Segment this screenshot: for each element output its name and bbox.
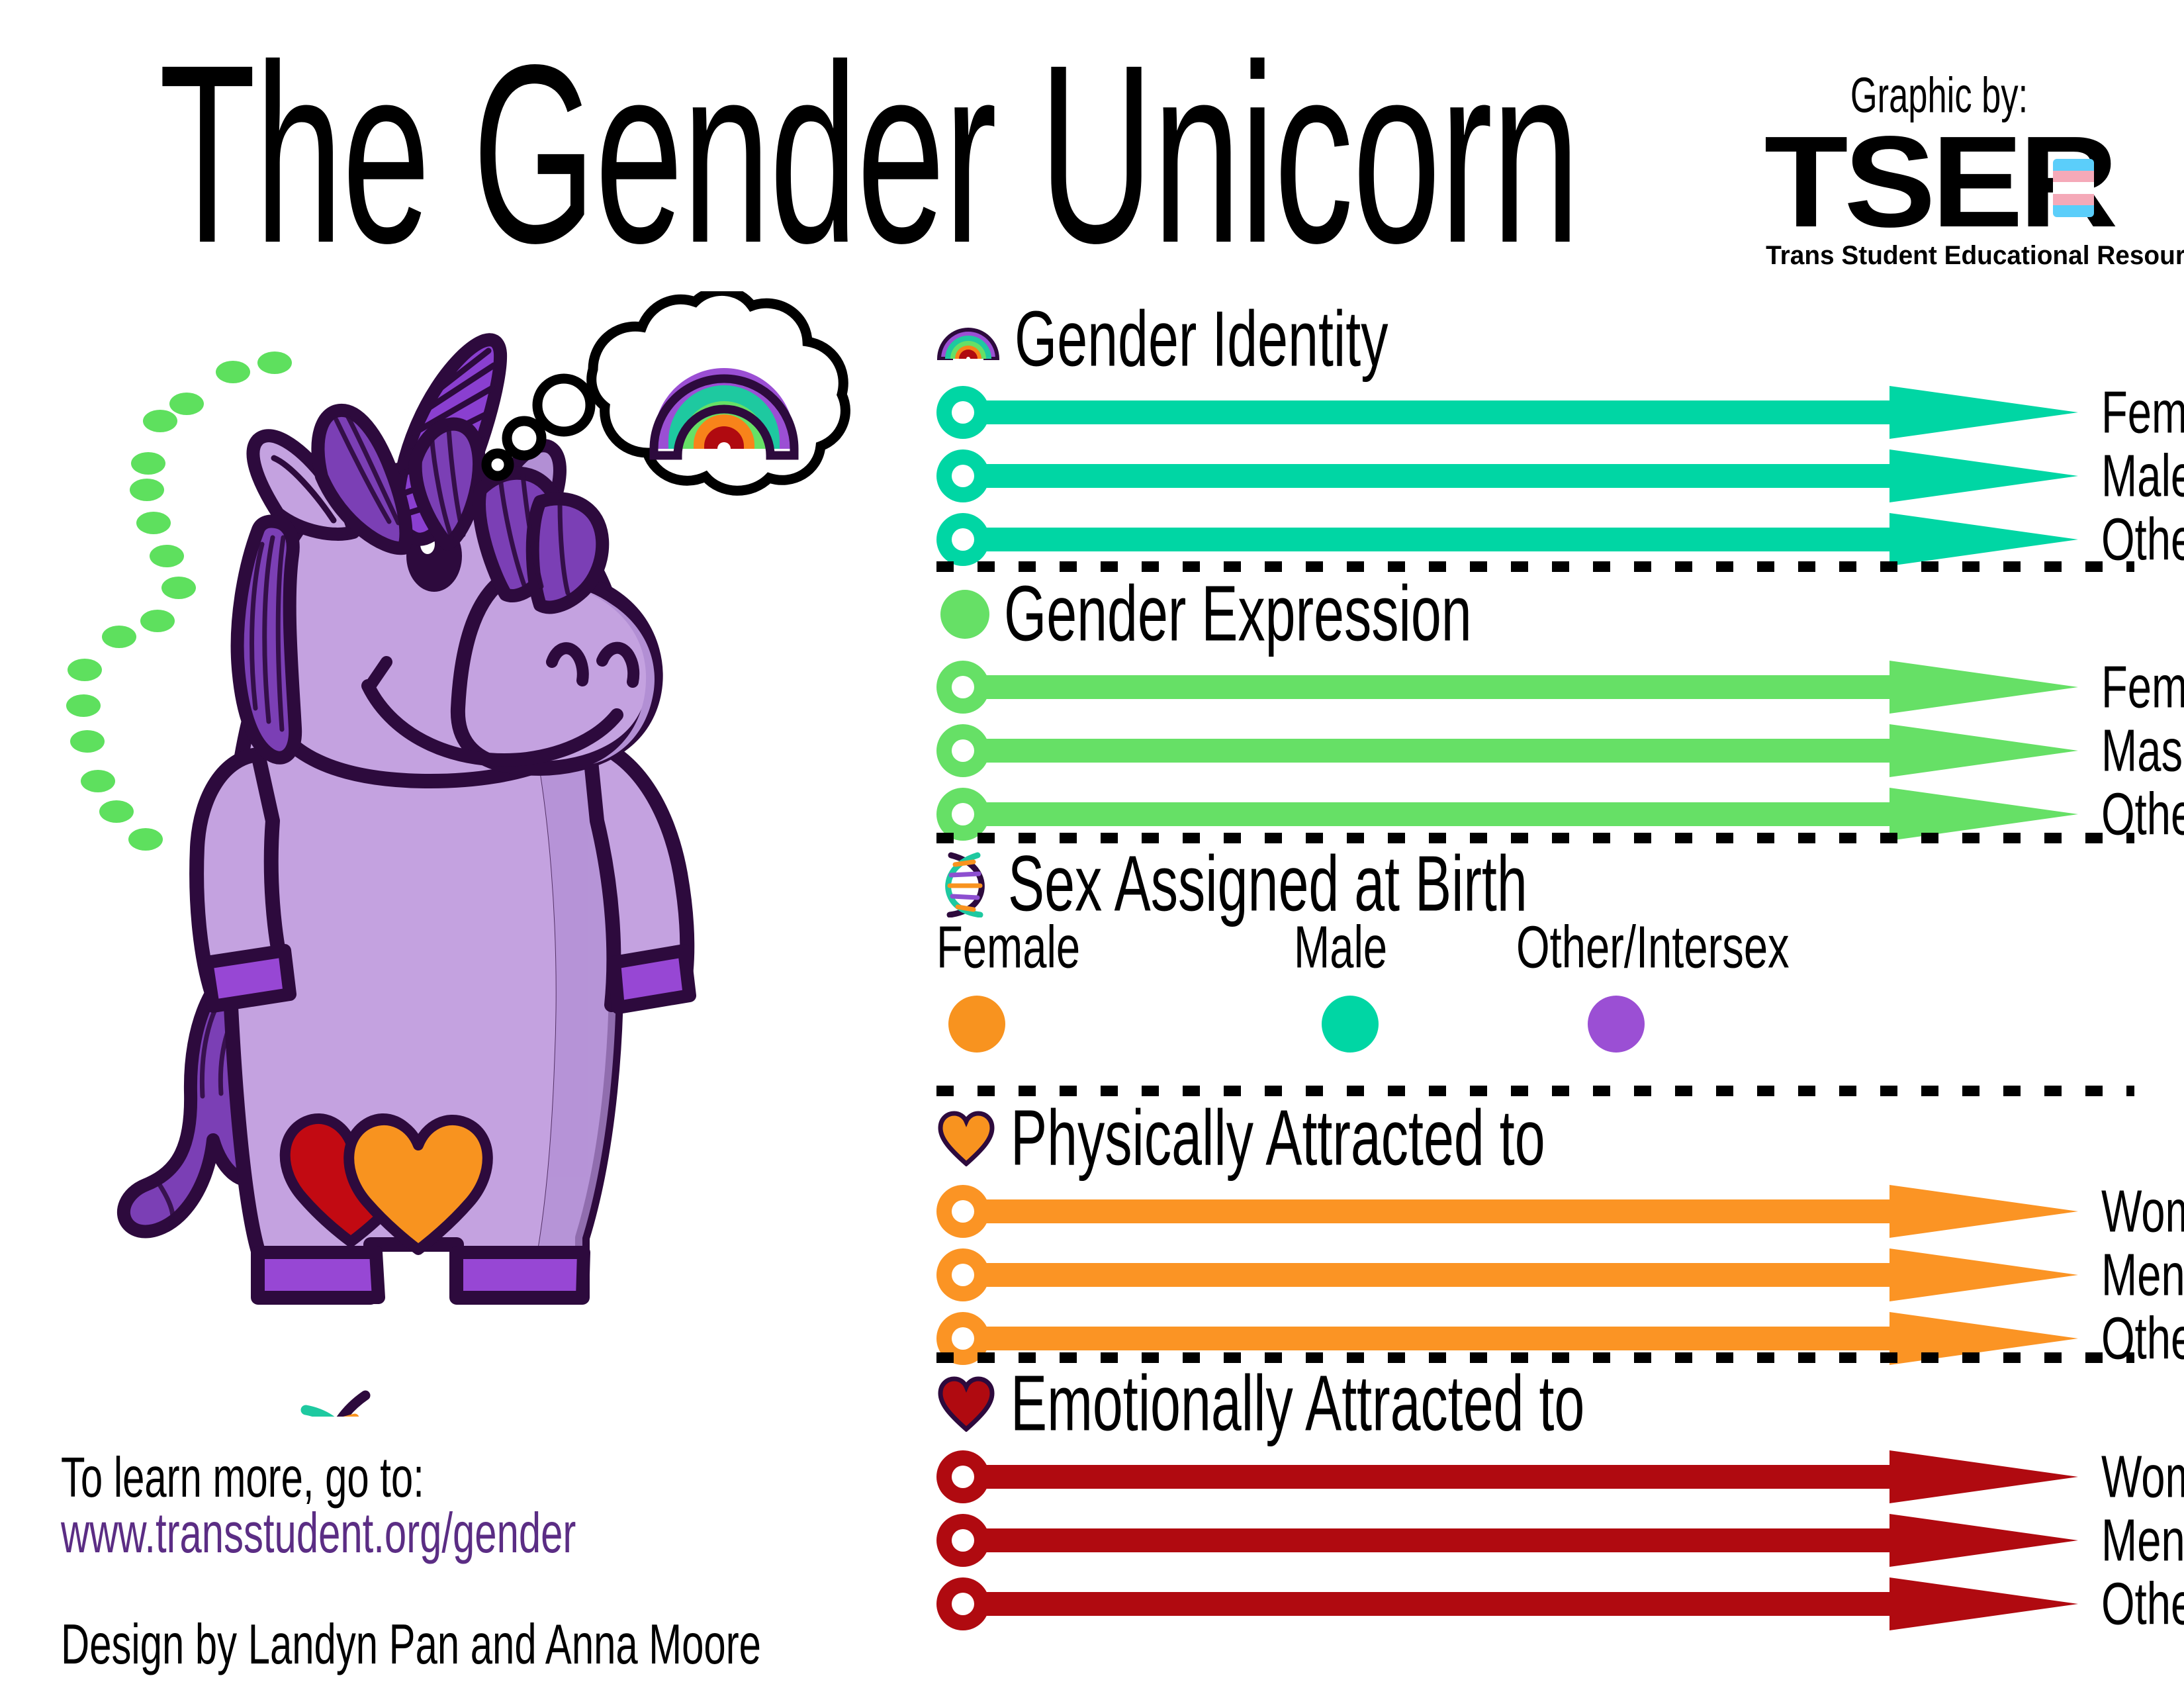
spectrum-row-label: Female/Woman/Girl — [2101, 388, 2184, 437]
spectrum-row-label: Other Gender(s) — [2101, 515, 2184, 564]
footer: To learn more, go to: www.transstudent.o… — [61, 1450, 856, 1672]
spectrum-row[interactable]: Men — [936, 1248, 1632, 1301]
section-physically-attracted-to: Physically Attracted to Women Men — [936, 1107, 1632, 1376]
learn-more-text: To learn more, go to: — [61, 1450, 856, 1505]
spectrum-arrow — [936, 513, 2081, 566]
spectrum-arrow — [936, 449, 2081, 502]
spectrum-row[interactable]: Women — [936, 1450, 1678, 1503]
spectrum-row-label: Masculine — [2101, 726, 2184, 775]
section-header: Gender Identity — [936, 308, 1449, 371]
green-dot-icon — [940, 590, 989, 639]
tser-full-name: Trans Student Educational Resources — [1766, 241, 2113, 271]
section-header: Gender Expression — [936, 583, 1548, 646]
section-title: Emotionally Attracted to — [1011, 1364, 1584, 1443]
saab-option-male[interactable]: Male — [1294, 923, 1400, 1053]
spectrum-row-label: Men — [2101, 1250, 2184, 1299]
website-link[interactable]: www.transstudent.org/gender — [61, 1505, 856, 1561]
saab-option-other-intersex[interactable]: Other/Intersex — [1516, 923, 1827, 1053]
dna-icon — [936, 851, 993, 917]
saab-option-dot — [948, 996, 1005, 1053]
saab-option-dot — [1322, 996, 1379, 1053]
section-header: Emotionally Attracted to — [936, 1372, 1678, 1436]
saab-option-female[interactable]: Female — [936, 923, 1100, 1053]
spectrum-arrow — [936, 386, 2081, 439]
page-title: The Gender Unicorn — [159, 26, 1579, 281]
saab-options: Female Male Other/Intersex — [936, 923, 1612, 1095]
spectrum-row[interactable]: Female/Woman/Girl — [936, 386, 1449, 439]
tser-logo: TSER — [1760, 119, 2118, 245]
spectrum-row-label: Men — [2101, 1516, 2184, 1565]
infographic-canvas: The Gender Unicorn Graphic by: TSER Tran… — [0, 0, 2184, 1688]
graphic-credit: Graphic by: TSER Trans Student Education… — [1760, 66, 2118, 271]
spectrum-arrow — [936, 1577, 2081, 1630]
spectrum-arrow — [936, 1514, 2081, 1567]
spectrum-rows: Female/Woman/Girl Male/Man/Boy Other Gen… — [936, 386, 1449, 566]
spectrum-row[interactable]: Men — [936, 1514, 1678, 1567]
spectrum-rows: Women Men Other Gender(s) — [936, 1450, 1678, 1630]
section-title: Physically Attracted to — [1011, 1099, 1545, 1178]
section-title: Sex Assigned at Birth — [1008, 845, 1527, 923]
spectrum-row[interactable]: Masculine — [936, 724, 1548, 777]
spectrum-row-label: Male/Man/Boy — [2101, 451, 2184, 500]
section-gender-identity: Gender Identity Female/Woman/Girl Male/M… — [936, 308, 1449, 577]
spectrum-row-label: Feminine — [2101, 663, 2184, 712]
spectrum-row-label: Women — [2101, 1452, 2184, 1501]
section-title: Gender Identity — [1015, 300, 1388, 379]
spectrum-row[interactable]: Feminine — [936, 661, 1548, 714]
section-emotionally-attracted-to: Emotionally Attracted to Women Men — [936, 1372, 1678, 1641]
saab-option-label: Male — [1294, 923, 1400, 972]
rainbow-icon — [936, 319, 1000, 360]
section-header: Physically Attracted to — [936, 1107, 1632, 1170]
red-heart-icon — [936, 1376, 996, 1432]
saab-option-dot — [1588, 996, 1645, 1053]
spectrum-row[interactable]: Male/Man/Boy — [936, 449, 1449, 502]
section-gender-expression: Gender Expression Feminine Masculine — [936, 583, 1548, 851]
spectrum-row-label: Other Gender(s) — [2101, 1579, 2184, 1628]
saab-option-label: Other/Intersex — [1516, 923, 1827, 972]
spectrum-arrow — [936, 724, 2081, 777]
section-header: Sex Assigned at Birth — [936, 853, 1612, 916]
spectrum-arrow — [936, 1450, 2081, 1503]
spectrum-row[interactable]: Other Gender(s) — [936, 513, 1449, 566]
unicorn-illustration — [60, 291, 893, 1417]
spectrum-row[interactable]: Women — [936, 1185, 1632, 1238]
section-sex-assigned-at-birth: Sex Assigned at Birth Female Male Other/… — [936, 853, 1612, 1095]
spectrum-row[interactable]: Other Gender(s) — [936, 1577, 1678, 1630]
design-credit: Design by Landyn Pan and Anna Moore — [61, 1617, 856, 1672]
spectrum-row-label: Other — [2101, 790, 2184, 839]
spectrum-rows: Women Men Other Gender(s) — [936, 1185, 1632, 1365]
spectrum-arrow — [936, 661, 2081, 714]
section-title: Gender Expression — [1004, 575, 1472, 653]
trans-flag-icon — [2053, 159, 2094, 217]
spectrum-rows: Feminine Masculine Other — [936, 661, 1548, 841]
saab-option-label: Female — [936, 923, 1100, 972]
orange-heart-icon — [936, 1111, 996, 1166]
spectrum-arrow — [936, 1248, 2081, 1301]
spectrum-row-label: Women — [2101, 1187, 2184, 1236]
spectrum-arrow — [936, 1185, 2081, 1238]
